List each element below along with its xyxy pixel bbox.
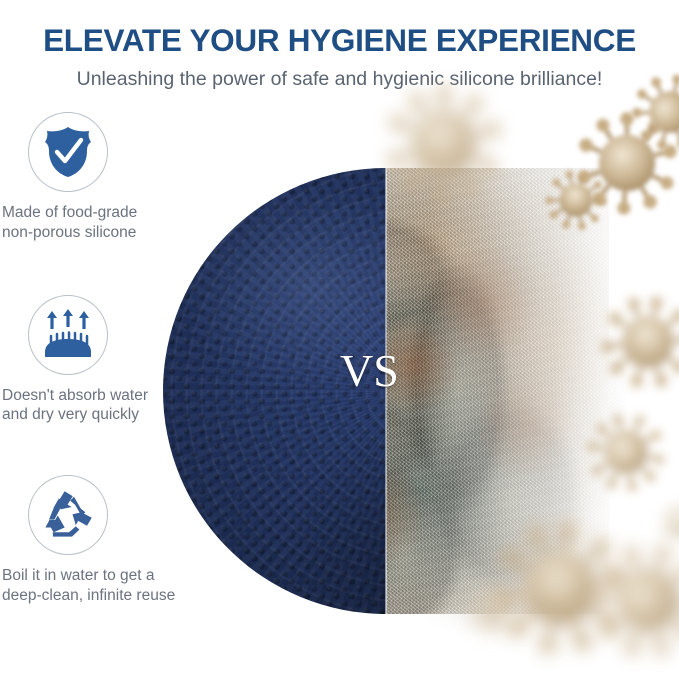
- feature-caption-line1: Boil it in water to get a: [2, 566, 195, 586]
- feature-caption-line1: Doesn't absorb water: [2, 386, 195, 406]
- page-title: ELEVATE YOUR HYGIENE EXPERIENCE: [0, 0, 679, 57]
- feature-caption: Boil it in water to get a deep-clean, in…: [2, 566, 195, 606]
- feature-caption: Doesn't absorb water and dry very quickl…: [2, 386, 195, 426]
- feature-caption-line2: deep-clean, infinite reuse: [2, 586, 195, 606]
- feature-caption-line1: Made of food-grade: [2, 203, 195, 223]
- shield-check-icon-circle: [28, 112, 108, 192]
- feature-caption-line2: and dry very quickly: [2, 405, 195, 425]
- feature-caption: Made of food-grade non-porous silicone: [2, 203, 195, 243]
- evaporation-arrows-icon-circle: [28, 295, 108, 375]
- evaporation-arrows-icon: [41, 309, 95, 361]
- recycle-icon: [40, 488, 96, 542]
- recycle-icon-circle: [28, 475, 108, 555]
- header: ELEVATE YOUR HYGIENE EXPERIENCE Unleashi…: [0, 0, 679, 100]
- feature-caption-line2: non-porous silicone: [2, 223, 195, 243]
- shield-check-icon: [42, 125, 94, 179]
- page-subtitle: Unleashing the power of safe and hygieni…: [0, 57, 679, 90]
- vs-label: VS: [340, 348, 399, 394]
